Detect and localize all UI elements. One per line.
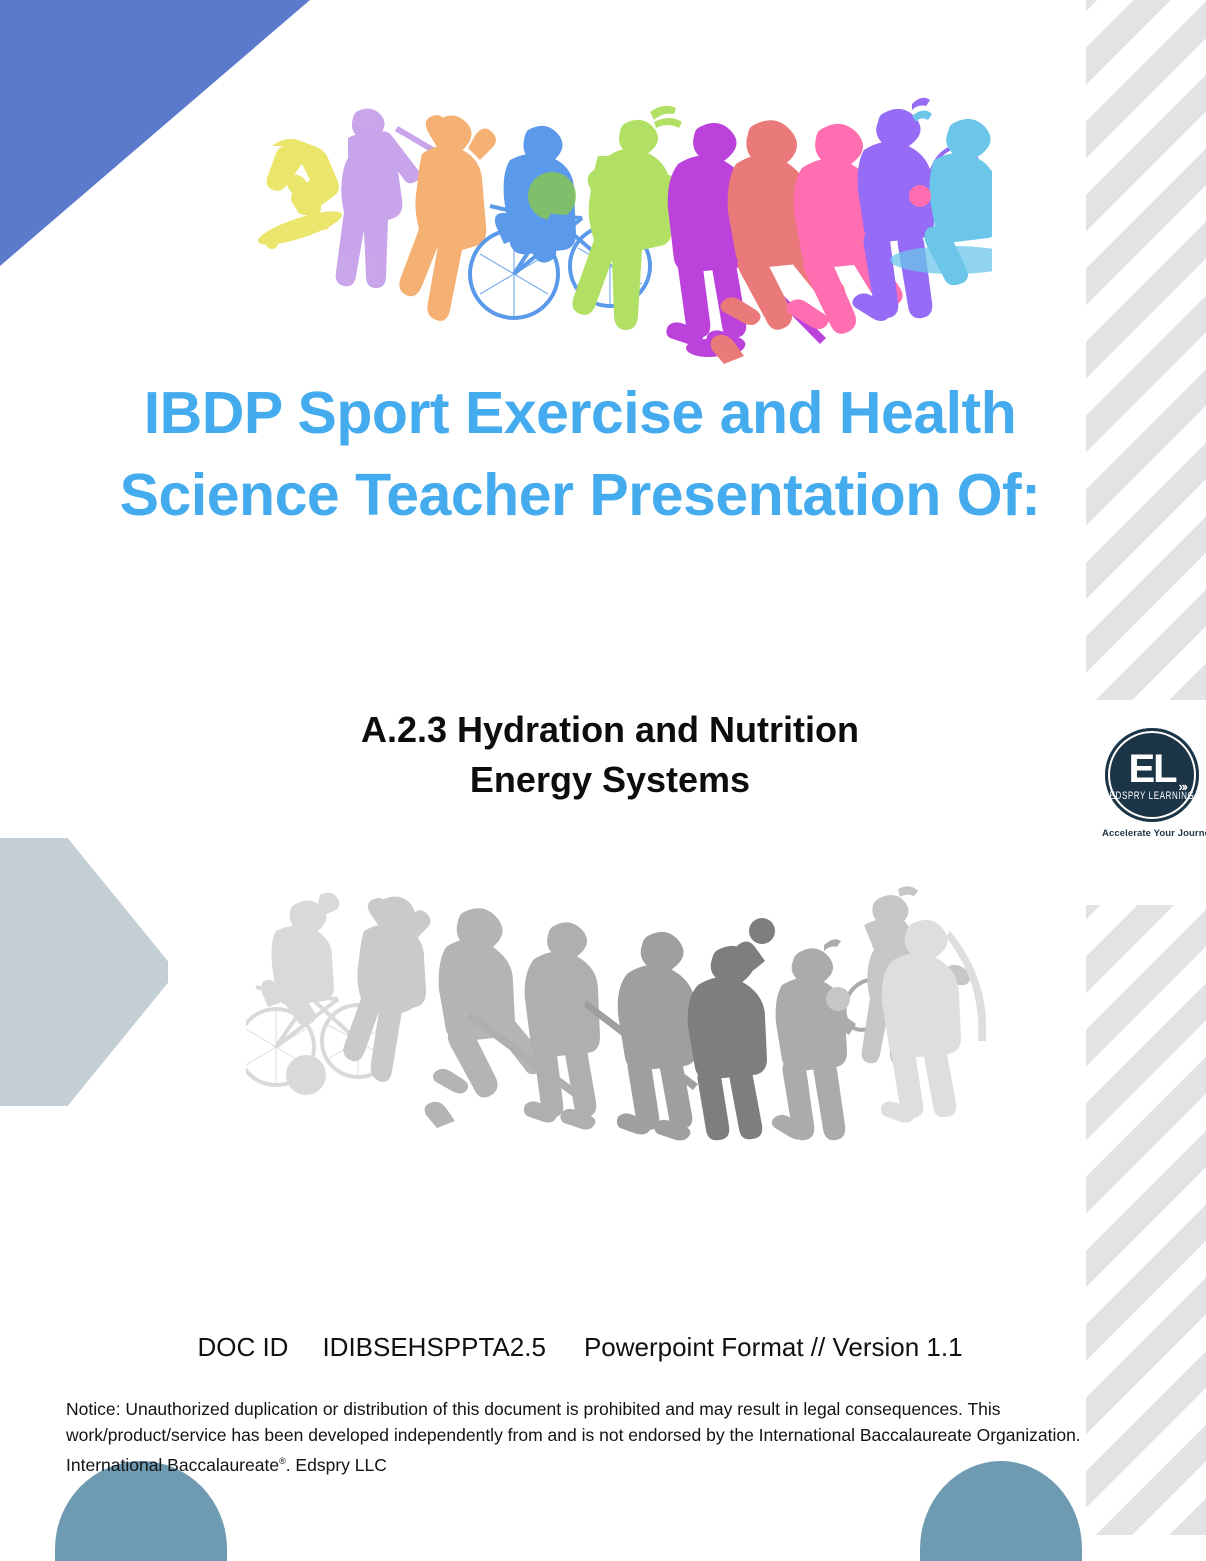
doc-id-row: DOC IDIDIBSEHSPPTA2.5Powerpoint Format /… — [60, 1330, 1100, 1364]
doc-id-value: IDIBSEHSPPTA2.5 — [322, 1330, 546, 1364]
legal-notice-owner: . Edspry LLC — [286, 1455, 387, 1475]
legal-notice-line-1: Notice: Unauthorized duplication or dist… — [66, 1396, 1086, 1422]
page-title-line-2: Science Teacher Presentation Of: — [50, 454, 1110, 536]
doc-format-version: Powerpoint Format // Version 1.1 — [584, 1330, 963, 1364]
legal-notice-line-3: International Baccalaureate®. Edspry LLC — [66, 1448, 1086, 1478]
diagonal-stripes-top-decor — [1086, 0, 1206, 700]
doc-id-label: DOC ID — [197, 1330, 288, 1364]
brand-logo-icon: EL »› EDSPRY LEARNING — [1105, 728, 1199, 822]
left-chevron-decor — [0, 838, 168, 1106]
diagonal-stripes-bottom-decor — [1086, 905, 1206, 1535]
mono-sports-silhouettes-image — [246, 885, 986, 1165]
registered-trademark-mark: ® — [279, 1456, 286, 1466]
page-subtitle: A.2.3 Hydration and Nutrition Energy Sys… — [140, 705, 1080, 805]
legal-notice: Notice: Unauthorized duplication or dist… — [66, 1396, 1086, 1478]
hero-sports-silhouettes-image — [252, 68, 992, 368]
page-subtitle-line-1: A.2.3 Hydration and Nutrition — [140, 705, 1080, 755]
page-subtitle-line-2: Energy Systems — [140, 755, 1080, 805]
brand-logo: EL »› EDSPRY LEARNING Accelerate Your Jo… — [1102, 728, 1202, 839]
page-title-line-1: IBDP Sport Exercise and Health — [50, 372, 1110, 454]
legal-notice-line-3-text: International Baccalaureate — [66, 1455, 279, 1475]
brand-wordmark: EDSPRY LEARNING — [1105, 789, 1199, 801]
cover-page: IBDP Sport Exercise and Health Science T… — [0, 0, 1206, 1561]
legal-notice-line-2: work/product/service has been developed … — [66, 1422, 1086, 1448]
brand-tagline: Accelerate Your Journey — [1102, 828, 1202, 839]
page-title: IBDP Sport Exercise and Health Science T… — [50, 372, 1110, 536]
